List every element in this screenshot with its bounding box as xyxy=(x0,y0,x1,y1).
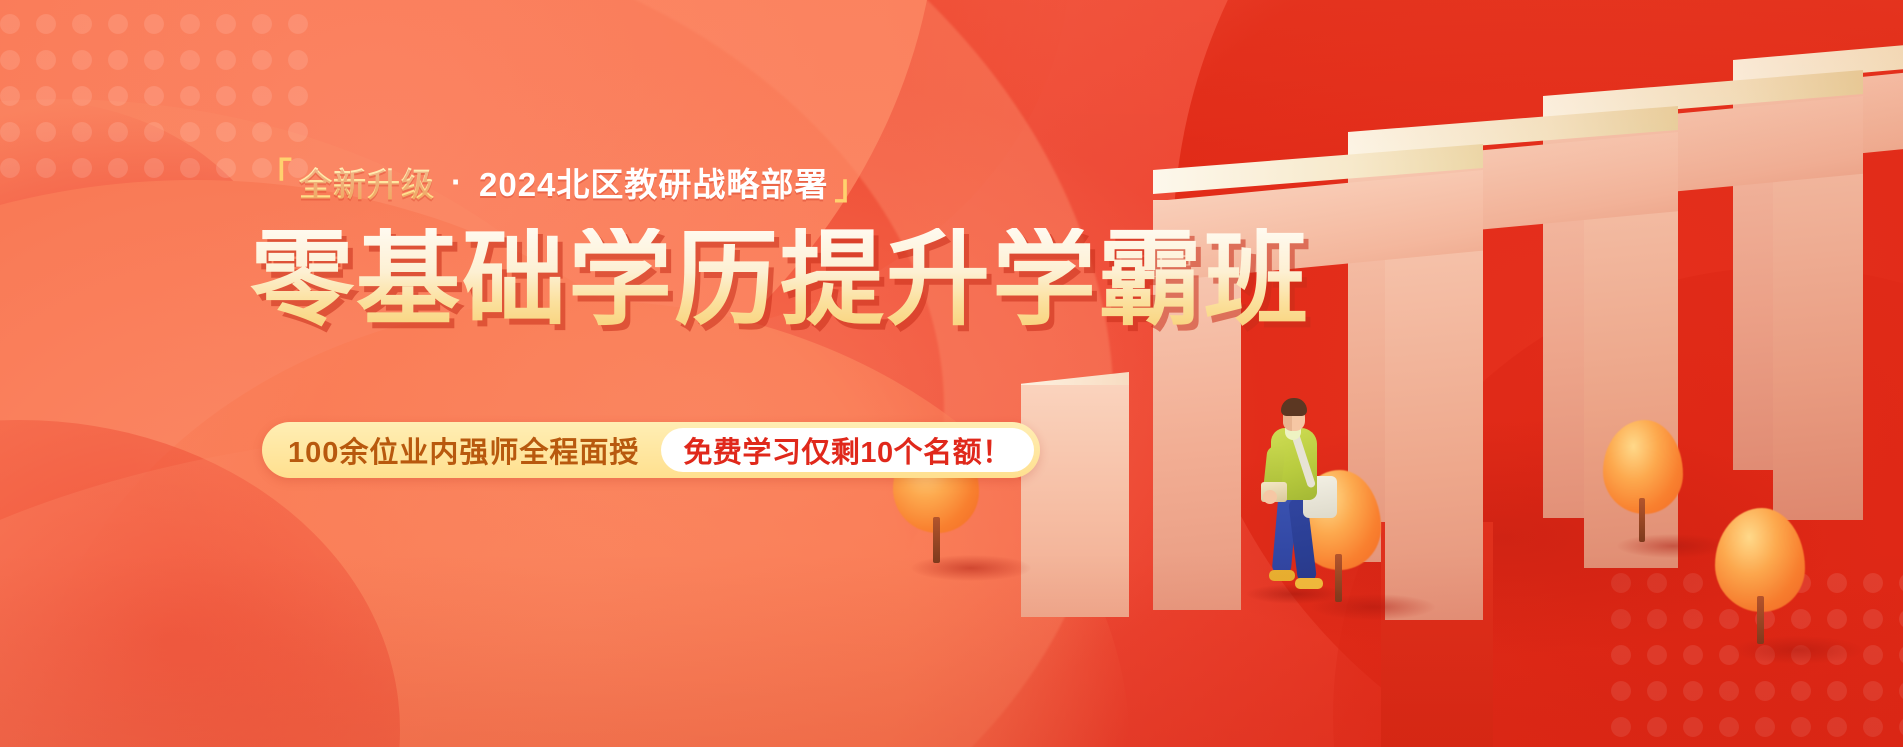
promo-banner[interactable]: 「 全新升级 · 2024北区教研战略部署 」 零基础学历提升学霸班 100余位… xyxy=(0,0,1903,747)
tree-3-shadow xyxy=(1617,534,1729,558)
highlight-pill[interactable]: 100余位业内强师全程面授 免费学习仅剩10个名额！ xyxy=(262,422,1040,478)
text-content: 「 全新升级 · 2024北区教研战略部署 」 零基础学历提升学霸班 100余位… xyxy=(0,0,1100,747)
eyebrow-gold-text: 全新升级 xyxy=(299,158,435,206)
tree-icon-4 xyxy=(1715,508,1811,648)
arch1-right-leg xyxy=(1385,240,1483,620)
pill-inner-badge[interactable]: 免费学习仅剩10个名额！ xyxy=(661,428,1033,472)
student-figure xyxy=(1255,398,1341,598)
tree-icon-3 xyxy=(1603,420,1687,546)
tree-3-trunk xyxy=(1639,498,1645,542)
tree-4-trunk xyxy=(1757,596,1764,644)
bracket-open: 「 xyxy=(258,159,293,193)
tree-4-shadow xyxy=(1733,636,1863,664)
student-hair xyxy=(1281,398,1307,416)
student-shoe-back xyxy=(1269,570,1295,581)
page-title: 零基础学历提升学霸班 xyxy=(250,228,1310,332)
arch3-right-leg xyxy=(1773,156,1863,520)
status-badge: 免费学习仅剩10个名额！ xyxy=(683,429,1011,471)
student-hand xyxy=(1263,490,1277,504)
illustration-books-and-campus xyxy=(1003,0,1903,747)
student-shoe-front xyxy=(1295,578,1323,589)
eyebrow-white-text: 2024北区教研战略部署 xyxy=(479,158,828,206)
eyebrow-line: 「 全新升级 · 2024北区教研战略部署 」 xyxy=(258,158,869,206)
eyebrow-separator: · xyxy=(441,163,473,201)
bracket-close: 」 xyxy=(834,171,869,205)
pill-left-label: 100余位业内强师全程面授 xyxy=(288,429,661,471)
